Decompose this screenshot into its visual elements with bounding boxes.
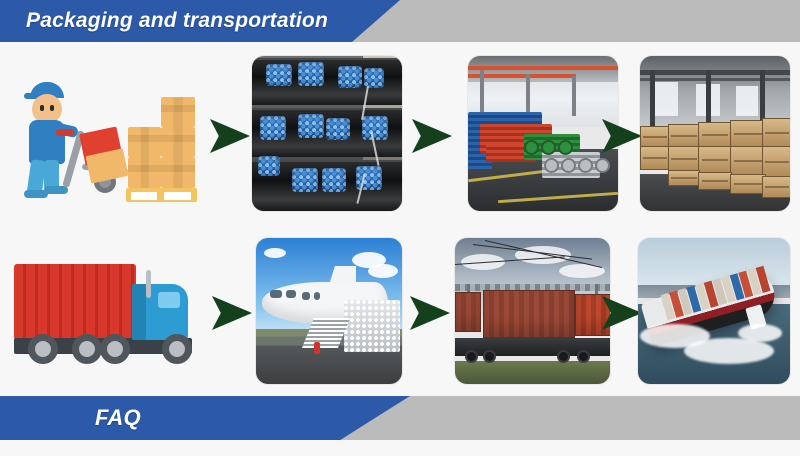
carton-stack-midleft-icon <box>128 127 161 157</box>
wooden-crates-tile: Rows of wooden export crates stacked ins… <box>640 56 790 211</box>
faq-title: FAQ <box>95 396 141 440</box>
carton-stack-botleft-icon <box>128 157 161 188</box>
worker-with-boxes-illustration: Warehouse worker moving cartons on a han… <box>4 56 236 212</box>
worker-eye-right-icon <box>50 105 54 111</box>
bundled-steel-pipes-tile: Black steel pipes with blue plastic end … <box>252 56 402 211</box>
faq-banner: FAQ <box>0 396 800 440</box>
truck-window-icon <box>158 292 180 308</box>
pallet-icon <box>126 188 197 202</box>
flow-arrow-2 <box>412 119 452 153</box>
flow-arrow-5 <box>410 296 450 330</box>
page-title: Packaging and transportation <box>26 0 328 42</box>
transportation-row: Blue semi truck cab pulling a red shippi… <box>0 238 800 384</box>
container-ship-tile: Loaded container ship sailing at sea <box>638 238 790 384</box>
carton-stack-botright-icon <box>161 157 195 188</box>
worker-eye-left-icon <box>40 105 44 111</box>
carton-stack-midright-icon <box>161 127 195 157</box>
truck-wheel-1-icon <box>28 334 58 364</box>
top-banner: Packaging and transportation <box>0 0 800 42</box>
hand-truck-handle-icon <box>56 129 74 136</box>
truck-cab-shadow-icon <box>132 284 146 340</box>
worker-shoe-front-icon <box>44 186 68 194</box>
truck-wheel-2-icon <box>72 334 102 364</box>
container-truck-illustration: Blue semi truck cab pulling a red shippi… <box>6 238 226 384</box>
truck-container-icon <box>14 264 136 340</box>
warehouse-coated-pipes-tile: Warehouse stacks of blue, red and green … <box>468 56 618 211</box>
freight-train-tile: Rail flatcars carrying red shipping cont… <box>455 238 610 384</box>
truck-wheel-3-icon <box>100 334 130 364</box>
truck-exhaust-icon <box>146 270 151 298</box>
carton-stack-top-icon <box>161 97 195 127</box>
page-root: Packaging and transportation Warehouse w… <box>0 0 800 456</box>
faq-banner-blue-fill <box>0 396 410 440</box>
truck-wheel-4-icon <box>162 334 192 364</box>
cargo-airplane-tile: White cargo aircraft being loaded with p… <box>256 238 402 384</box>
packaging-row: Warehouse worker moving cartons on a han… <box>0 56 800 212</box>
